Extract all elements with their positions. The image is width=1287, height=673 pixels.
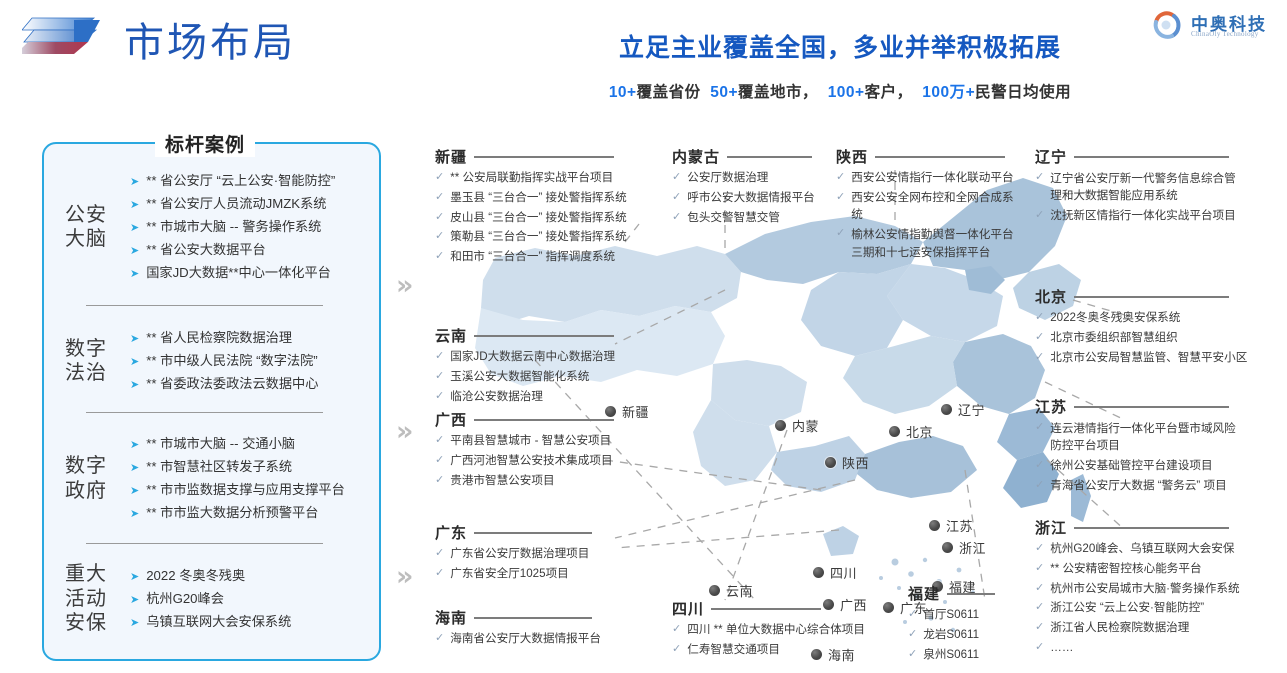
region-block-zhejiang: 浙江 ✓杭州G20峰会、乌镇互联网大会安保 ✓** 公安精密智控核心能务平台 ✓… (1035, 517, 1260, 657)
check-icon: ✓ (1035, 581, 1044, 597)
check-icon: ✓ (435, 631, 444, 647)
check-icon: ✓ (836, 190, 845, 206)
check-icon: ✓ (672, 622, 681, 638)
chevron-right-icon-1: » (396, 272, 413, 299)
case-item: ➤** 市城市大脑 -- 警务操作系统 (130, 220, 371, 234)
region-item: ✓玉溪公安大数据智能化系统 (435, 369, 635, 386)
stat-unit-1: 覆盖地市， (738, 84, 818, 101)
region-item: ✓2022冬奥冬残奥安保系统 (1035, 310, 1250, 327)
check-icon: ✓ (1035, 330, 1044, 346)
check-icon: ✓ (435, 249, 444, 265)
stat-num-2: 100+ (828, 84, 865, 101)
region-item: ✓杭州市公安局城市大脑·警务操作系统 (1035, 581, 1260, 598)
region-item: ✓徐州公安基础管控平台建设项目 (1035, 458, 1250, 475)
check-icon: ✓ (435, 546, 444, 562)
headline: 立足主业覆盖全国，多业并举积极拓展 (560, 28, 1120, 64)
check-icon: ✓ (1035, 310, 1044, 326)
arrow-bullet-icon: ➤ (130, 617, 139, 629)
arrow-bullet-icon: ➤ (130, 199, 139, 211)
check-icon: ✓ (1035, 420, 1044, 436)
check-icon: ✓ (672, 170, 681, 186)
case-item: ➤** 市市监数据支撑与应用支撑平台 (130, 483, 371, 497)
region-header: 福建 (908, 583, 1038, 604)
stat-num-1: 50+ (710, 84, 738, 101)
region-item: ✓北京市委组织部智慧组织 (1035, 330, 1250, 347)
group-divider (86, 305, 323, 306)
stat-num-3: 100万+ (922, 84, 975, 101)
check-icon: ✓ (908, 627, 917, 643)
region-block-inner-mongolia: 内蒙古 ✓公安厅数据治理 ✓呼市公安大数据情报平台 ✓包头交警智慧交管 (672, 146, 832, 226)
region-item: ✓北京市公安局智慧监管、智慧平安小区 (1035, 350, 1250, 367)
check-icon: ✓ (908, 647, 917, 663)
region-item: ✓泉州S0611 (908, 647, 1038, 664)
stat-unit-3: 民警日均使用 (975, 84, 1071, 101)
arrow-bullet-icon: ➤ (130, 508, 139, 520)
check-icon: ✓ (1035, 478, 1044, 494)
page-title: 市场布局 (124, 10, 296, 68)
map-label-beijing: 北京 (889, 422, 933, 441)
slide-root: 市场布局 立足主业覆盖全国，多业并举积极拓展 10+覆盖省份 50+覆盖地市， … (0, 0, 1287, 673)
company-logo: 中奥科技 ChinaOly Technology (1149, 8, 1269, 48)
check-icon: ✓ (836, 226, 845, 242)
check-icon: ✓ (435, 369, 444, 385)
arrow-bullet-icon: ➤ (130, 462, 139, 474)
check-icon: ✓ (908, 607, 917, 623)
check-icon: ✓ (672, 190, 681, 206)
arrow-bullet-icon: ➤ (130, 176, 139, 188)
region-item: ✓沈抚新区情指行一体化实战平台项目 (1035, 208, 1250, 225)
region-item: ✓广东省安全厅1025项目 (435, 566, 635, 583)
region-header: 海南 (435, 607, 635, 628)
region-item: ✓广西河池智慧公安技术集成项目 (435, 453, 635, 470)
arrow-bullet-icon: ➤ (130, 485, 139, 497)
region-header: 广西 (435, 409, 635, 430)
region-header: 浙江 (1035, 517, 1260, 538)
check-icon: ✓ (1035, 620, 1044, 636)
case-item: ➤乌镇互联网大会安保系统 (130, 615, 371, 629)
case-item: ➤** 市智慧社区转发子系统 (130, 460, 371, 474)
panel-title: 标杆案例 (155, 130, 255, 157)
region-block-fujian: 福建 ✓首厅S0611 ✓龙岩S0611 ✓泉州S0611 (908, 583, 1038, 663)
check-icon: ✓ (435, 389, 444, 405)
case-group-digital-justice: 数字法治 ➤** 省人民检察院数据治理 ➤** 市中级人民法院 “数字法院” ➤… (42, 322, 377, 400)
map-label-shaanxi: 陕西 (825, 453, 869, 472)
check-icon: ✓ (672, 210, 681, 226)
map-dot-icon (883, 602, 894, 613)
region-header: 辽宁 (1035, 146, 1250, 167)
case-item: ➤** 省人民检察院数据治理 (130, 331, 371, 345)
region-item: ✓平南县智慧城市 - 智慧公安项目 (435, 433, 635, 450)
region-block-guangxi: 广西 ✓平南县智慧城市 - 智慧公安项目 ✓广西河池智慧公安技术集成项目 ✓贵港… (435, 409, 635, 489)
region-block-jiangsu: 江苏 ✓连云港情指行一体化平台暨市域风险防控平台项目 ✓徐州公安基础管控平台建设… (1035, 396, 1250, 494)
arrow-bullet-icon: ➤ (130, 333, 139, 345)
check-icon: ✓ (1035, 600, 1044, 616)
check-icon: ✓ (672, 642, 681, 658)
check-icon: ✓ (435, 229, 444, 245)
region-item: ✓呼市公安大数据情报平台 (672, 190, 832, 207)
case-item: ➤** 省公安厅人员流动JMZK系统 (130, 197, 371, 211)
stat-num-0: 10+ (609, 84, 637, 101)
case-group-public-security: 公安大脑 ➤** 省公安厅 “云上公安·智能防控” ➤** 省公安厅人员流动JM… (42, 165, 377, 289)
region-item: ✓青海省公安厅大数据 “警务云” 项目 (1035, 478, 1250, 495)
ribbon-logo-icon (22, 12, 114, 58)
region-block-sichuan: 四川 ✓四川 ** 单位大数据中心综合体项目 ✓仁寿智慧交通项目 (672, 598, 872, 659)
check-icon: ✓ (435, 433, 444, 449)
map-dot-icon (775, 420, 786, 431)
case-item: ➤** 省委政法委政法云数据中心 (130, 377, 371, 391)
check-icon: ✓ (1035, 350, 1044, 366)
map-dot-icon (889, 426, 900, 437)
map-dot-icon (709, 585, 720, 596)
check-icon: ✓ (1035, 541, 1044, 557)
stat-unit-0: 覆盖省份 (637, 84, 701, 101)
case-item: ➤2022 冬奥冬残奥 (130, 569, 371, 583)
case-group-label: 数字法治 (42, 337, 130, 386)
region-block-yunnan: 云南 ✓国家JD大数据云南中心数据治理 ✓玉溪公安大数据智能化系统 ✓临沧公安数… (435, 325, 635, 405)
chevron-right-icon-2: » (396, 418, 413, 445)
arrow-bullet-icon: ➤ (130, 268, 139, 280)
region-block-hainan: 海南 ✓海南省公安厅大数据情报平台 (435, 607, 635, 648)
map-label-neimeng: 内蒙 (775, 416, 819, 435)
region-block-shaanxi: 陕西 ✓西安公安情指行一体化联动平台 ✓西安公安全网布控和全网合成系统 ✓榆林公… (836, 146, 1024, 261)
region-item: ✓墨玉县 “三台合一” 接处警指挥系统 (435, 190, 635, 207)
region-item: ✓公安厅数据治理 (672, 170, 832, 187)
stats-line: 10+覆盖省份 50+覆盖地市， 100+客户， 100万+民警日均使用 (560, 80, 1120, 102)
map-dot-icon (825, 457, 836, 468)
check-icon: ✓ (1035, 561, 1044, 577)
arrow-bullet-icon: ➤ (130, 571, 139, 583)
check-icon: ✓ (1035, 170, 1044, 186)
chinaoly-symbol-icon (1149, 8, 1189, 44)
case-group-label: 公安大脑 (42, 203, 130, 252)
case-item: ➤** 省公安大数据平台 (130, 243, 371, 257)
region-item: ✓四川 ** 单位大数据中心综合体项目 (672, 622, 872, 639)
arrow-bullet-icon: ➤ (130, 245, 139, 257)
region-item: ✓贵港市智慧公安项目 (435, 473, 635, 490)
region-item: ✓国家JD大数据云南中心数据治理 (435, 349, 635, 366)
arrow-bullet-icon: ➤ (130, 222, 139, 234)
check-icon: ✓ (435, 349, 444, 365)
region-item: ✓海南省公安厅大数据情报平台 (435, 631, 635, 648)
region-item: ✓西安公安情指行一体化联动平台 (836, 170, 1024, 187)
region-item: ✓浙江省人民检察院数据治理 (1035, 620, 1260, 637)
case-item: ➤** 市中级人民法院 “数字法院” (130, 354, 371, 368)
map-label-zhejiang: 浙江 (942, 538, 986, 557)
check-icon: ✓ (836, 170, 845, 186)
region-header: 四川 (672, 598, 872, 619)
check-icon: ✓ (1035, 208, 1044, 224)
region-item: ✓** 公安精密智控核心能务平台 (1035, 561, 1260, 578)
case-item: ➤国家JD大数据**中心一体化平台 (130, 266, 371, 280)
case-item: ➤** 市市监大数据分析预警平台 (130, 506, 371, 520)
arrow-bullet-icon: ➤ (130, 356, 139, 368)
case-item: ➤** 省公安厅 “云上公安·智能防控” (130, 174, 371, 188)
arrow-bullet-icon: ➤ (130, 379, 139, 391)
check-icon: ✓ (435, 190, 444, 206)
region-block-xinjiang: 新疆 ✓** 公安局联勤指挥实战平台项目 ✓墨玉县 “三台合一” 接处警指挥系统… (435, 146, 635, 266)
region-item: ✓临沧公安数据治理 (435, 389, 635, 406)
region-item: ✓广东省公安厅数据治理项目 (435, 546, 635, 563)
case-group-label: 重大活动安保 (42, 562, 130, 635)
region-header: 新疆 (435, 146, 635, 167)
region-item: ✓…… (1035, 640, 1260, 657)
arrow-bullet-icon: ➤ (130, 594, 139, 606)
check-icon: ✓ (435, 473, 444, 489)
chevron-right-icon-3: » (396, 563, 413, 590)
region-item: ✓西安公安全网布控和全网合成系统 (836, 190, 1024, 224)
group-divider (86, 543, 323, 544)
region-header: 陕西 (836, 146, 1024, 167)
arrow-bullet-icon: ➤ (130, 439, 139, 451)
case-group-label: 数字政府 (42, 454, 130, 503)
region-item: ✓浙江公安 “云上公安·智能防控” (1035, 600, 1260, 617)
map-dot-icon (941, 404, 952, 415)
check-icon: ✓ (1035, 640, 1044, 656)
region-header: 北京 (1035, 286, 1250, 307)
case-group-digital-government: 数字政府 ➤** 市城市大脑 -- 交通小脑 ➤** 市智慧社区转发子系统 ➤*… (42, 428, 377, 529)
region-item: ✓** 公安局联勤指挥实战平台项目 (435, 170, 635, 187)
case-item: ➤** 市城市大脑 -- 交通小脑 (130, 437, 371, 451)
group-divider (86, 412, 323, 413)
case-item: ➤杭州G20峰会 (130, 592, 371, 606)
region-block-liaoning: 辽宁 ✓辽宁省公安厅新一代警务信息综合管理和大数据智能应用系统 ✓沈抚新区情指行… (1035, 146, 1250, 225)
map-label-jiangsu: 江苏 (929, 516, 973, 535)
region-header: 广东 (435, 522, 635, 543)
check-icon: ✓ (435, 566, 444, 582)
region-item: ✓辽宁省公安厅新一代警务信息综合管理和大数据智能应用系统 (1035, 170, 1250, 205)
map-dot-icon (813, 567, 824, 578)
map-label-liaoning: 辽宁 (941, 400, 985, 419)
region-header: 内蒙古 (672, 146, 832, 167)
region-header: 云南 (435, 325, 635, 346)
map-label-sichuan: 四川 (813, 563, 857, 582)
region-item: ✓首厅S0611 (908, 607, 1038, 624)
brand-name-en: ChinaOly Technology (1191, 30, 1259, 38)
region-header: 江苏 (1035, 396, 1250, 417)
region-item: ✓榆林公安情指勤舆督一体化平台三期和十七运安保指挥平台 (836, 226, 1024, 261)
region-item: ✓仁寿智慧交通项目 (672, 642, 872, 659)
region-item: ✓包头交警智慧交管 (672, 210, 832, 227)
region-item: ✓策勒县 “三台合一” 接处警指挥系统 (435, 229, 635, 246)
map-dot-icon (929, 520, 940, 531)
region-item: ✓和田市 “三台合一” 指挥调度系统 (435, 249, 635, 266)
region-block-beijing: 北京 ✓2022冬奥冬残奥安保系统 ✓北京市委组织部智慧组织 ✓北京市公安局智慧… (1035, 286, 1250, 366)
region-item: ✓连云港情指行一体化平台暨市域风险防控平台项目 (1035, 420, 1250, 455)
region-item: ✓皮山县 “三台合一” 接处警指挥系统 (435, 210, 635, 227)
check-icon: ✓ (435, 210, 444, 226)
case-group-major-events: 重大活动安保 ➤2022 冬奥冬残奥 ➤杭州G20峰会 ➤乌镇互联网大会安保系统 (42, 560, 377, 638)
map-dot-icon (942, 542, 953, 553)
stat-unit-2: 客户， (865, 84, 913, 101)
region-item: ✓龙岩S0611 (908, 627, 1038, 644)
region-block-guangdong: 广东 ✓广东省公安厅数据治理项目 ✓广东省安全厅1025项目 (435, 522, 635, 583)
check-icon: ✓ (435, 170, 444, 186)
check-icon: ✓ (435, 453, 444, 469)
region-item: ✓杭州G20峰会、乌镇互联网大会安保 (1035, 541, 1260, 558)
check-icon: ✓ (1035, 458, 1044, 474)
